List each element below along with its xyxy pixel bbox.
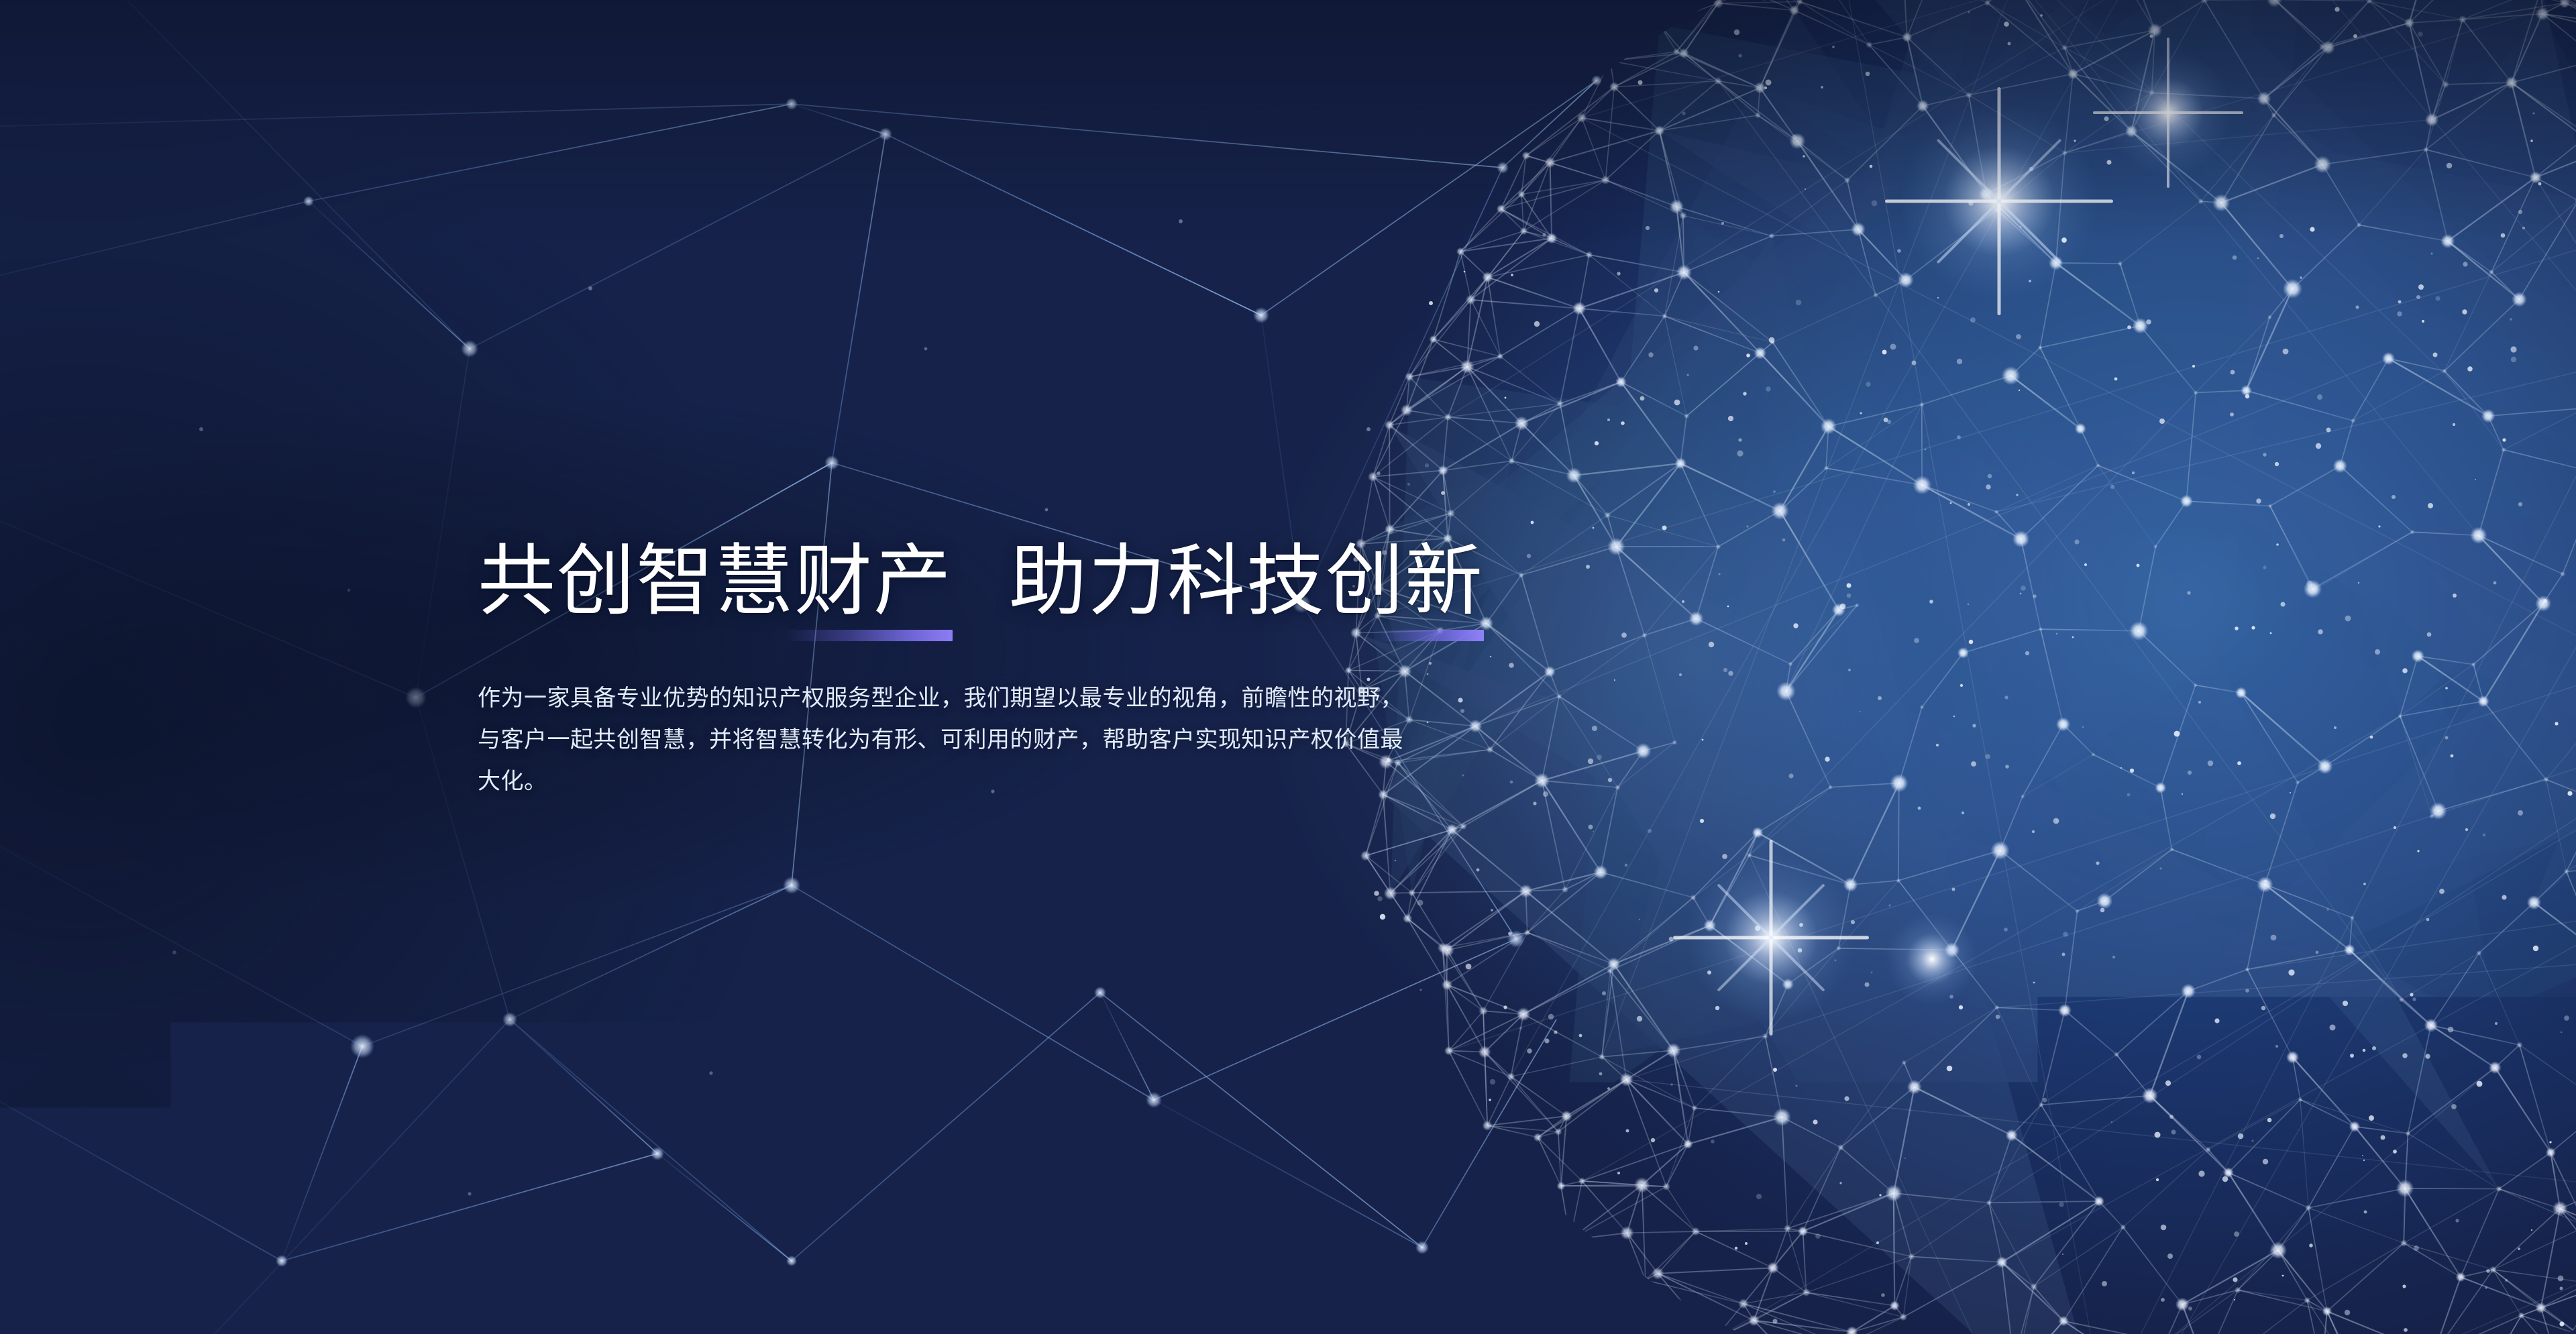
headline-part-1: 共创智慧财产 [478, 541, 953, 622]
headline-part-2: 助力科技创新 [1009, 541, 1484, 622]
headline-part-2-group: 助力科技创新 [1009, 541, 1484, 622]
hero-description: 作为一家具备专业优势的知识产权服务型企业，我们期望以最专业的视角，前瞻性的视野，… [478, 677, 1411, 802]
accent-bar-1 [785, 630, 953, 641]
banner-hero: 共创智慧财产 助力科技创新 作为一家具备专业优势的知识产权服务型企业，我们期望以… [0, 0, 2576, 1334]
headline-part-1-group: 共创智慧财产 [478, 541, 953, 622]
accent-bar-2 [1378, 630, 1484, 641]
hero-content: 共创智慧财产 助力科技创新 作为一家具备专业优势的知识产权服务型企业，我们期望以… [478, 541, 1484, 825]
page-title: 共创智慧财产 助力科技创新 [478, 541, 1484, 622]
